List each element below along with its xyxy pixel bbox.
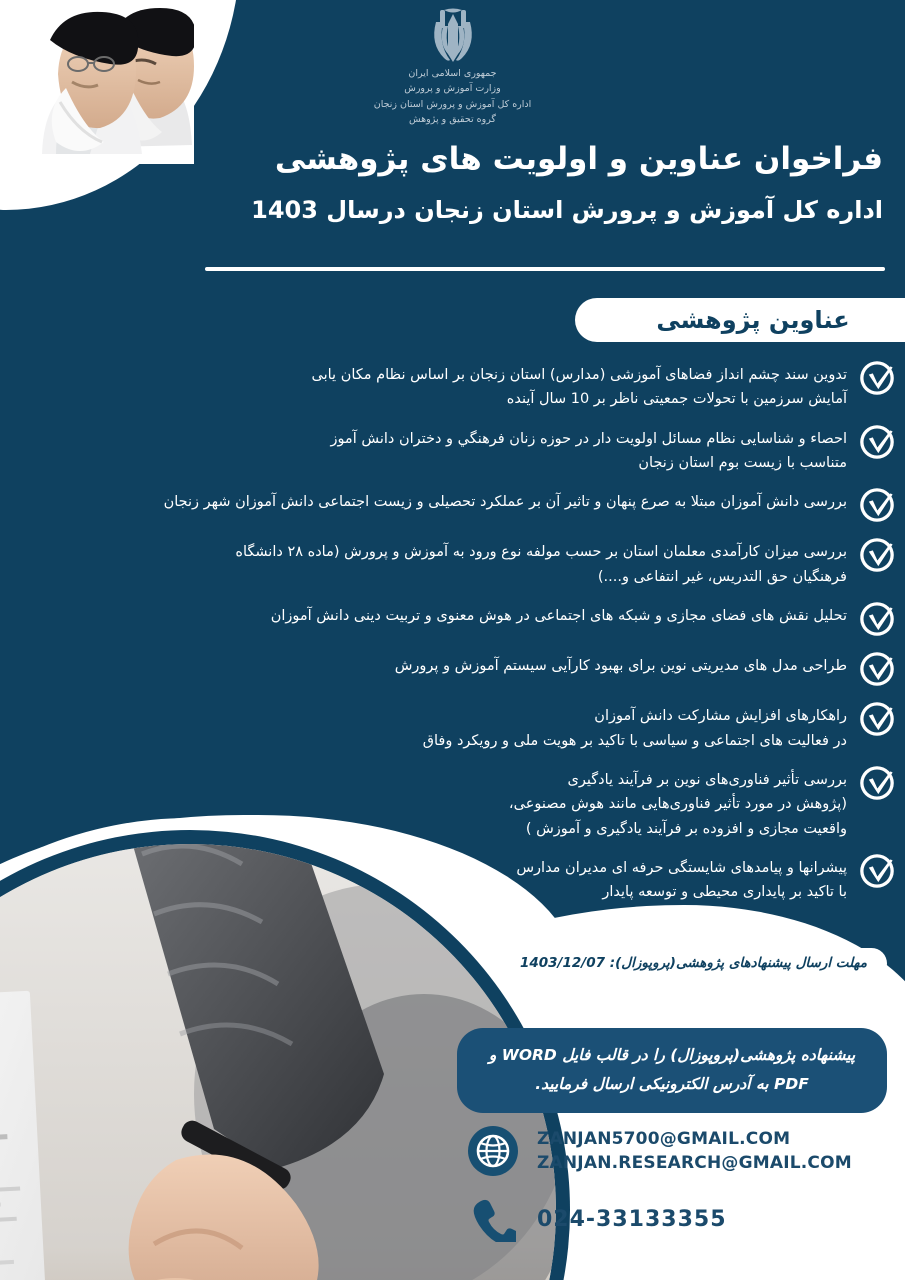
section-banner-label: عناوین پژوهشی	[575, 306, 905, 334]
topic-text: بررسی میزان کارآمدی معلمان استان بر حسب …	[10, 539, 847, 589]
check-circle-icon	[857, 358, 897, 398]
check-circle-icon	[857, 422, 897, 462]
title-block: فراخوان عناوین و اولویت های پژوهشی اداره…	[183, 140, 883, 226]
list-item: تدوین سند چشم انداز فضاهای آموزشی (مدارس…	[0, 362, 905, 412]
email-list: ZANJAN5700@GMAIL.COM ZANJAN.RESEARCH@GMA…	[537, 1128, 852, 1173]
list-item: بررسی میزان کارآمدی معلمان استان بر حسب …	[0, 539, 905, 589]
list-item: راهکارهای افزایش مشارکت دانش آموزان در ف…	[0, 703, 905, 753]
topics-list: تدوین سند چشم انداز فضاهای آموزشی (مدارس…	[0, 362, 905, 919]
check-circle-icon	[857, 599, 897, 639]
poster-root: جمهوری اسلامی ایران وزارت آموزش و پرورش …	[0, 0, 905, 1280]
title-divider	[205, 267, 885, 271]
phone-row: 024-33133355	[467, 1193, 887, 1245]
email-secondary[interactable]: ZANJAN.RESEARCH@GMAIL.COM	[537, 1152, 852, 1174]
list-item: تحلیل نقش های فضای مجازی و شبکه های اجتم…	[0, 603, 905, 639]
check-circle-icon	[857, 649, 897, 689]
check-circle-icon	[857, 485, 897, 525]
check-circle-icon	[857, 699, 897, 739]
iran-national-emblem-icon	[422, 8, 484, 66]
page-subtitle: اداره کل آموزش و پرورش استان زنجان درسال…	[183, 194, 883, 226]
list-item: احصاء و شناسایی نظام مسائل اولویت دار در…	[0, 426, 905, 476]
topic-text: طراحی مدل های مدیریتی نوین برای بهبود کا…	[10, 653, 847, 678]
contact-block: ZANJAN5700@GMAIL.COM ZANJAN.RESEARCH@GMA…	[467, 1125, 887, 1261]
submission-instruction: پیشنهاده پژوهشی(پروپوزال) را در قالب فای…	[457, 1028, 887, 1113]
topic-text: راهکارهای افزایش مشارکت دانش آموزان در ف…	[10, 703, 847, 753]
page-title: فراخوان عناوین و اولویت های پژوهشی	[183, 140, 883, 180]
check-circle-icon	[857, 851, 897, 891]
deadline-badge: مهلت ارسال پیشنهادهای پژوهشی(پروپوزال): …	[507, 948, 887, 979]
email-primary[interactable]: ZANJAN5700@GMAIL.COM	[537, 1128, 852, 1150]
organization-lines: جمهوری اسلامی ایران وزارت آموزش و پرورش …	[273, 66, 633, 128]
topic-text: بررسی تأثیر فناوری‌های نوین بر فرآیند یا…	[10, 767, 847, 841]
globe-icon	[467, 1125, 519, 1177]
org-line-1: جمهوری اسلامی ایران	[273, 66, 633, 81]
section-banner: عناوین پژوهشی	[575, 298, 905, 342]
org-line-2: وزارت آموزش و پرورش	[273, 81, 633, 96]
topic-text: پیشرانها و پیامدهای شایستگی حرفه ای مدیر…	[10, 855, 847, 905]
topic-text: بررسی دانش آموزان مبتلا به صرع پنهان و ت…	[10, 489, 847, 514]
topic-text: تدوین سند چشم انداز فضاهای آموزشی (مدارس…	[10, 362, 847, 412]
list-item: بررسی تأثیر فناوری‌های نوین بر فرآیند یا…	[0, 767, 905, 841]
list-item: پیشرانها و پیامدهای شایستگی حرفه ای مدیر…	[0, 855, 905, 905]
org-line-4: گروه تحقیق و پژوهش	[273, 112, 633, 127]
email-row: ZANJAN5700@GMAIL.COM ZANJAN.RESEARCH@GMA…	[467, 1125, 887, 1177]
org-line-3: اداره کل آموزش و پرورش استان زنجان	[273, 97, 633, 112]
phone-icon	[467, 1193, 519, 1245]
list-item: بررسی دانش آموزان مبتلا به صرع پنهان و ت…	[0, 489, 905, 525]
check-circle-icon	[857, 763, 897, 803]
topic-text: احصاء و شناسایی نظام مسائل اولویت دار در…	[10, 426, 847, 476]
list-item: طراحی مدل های مدیریتی نوین برای بهبود کا…	[0, 653, 905, 689]
leaders-portrait-photo	[14, 2, 194, 164]
topic-text: تحلیل نقش های فضای مجازی و شبکه های اجتم…	[10, 603, 847, 628]
check-circle-icon	[857, 535, 897, 575]
phone-number[interactable]: 024-33133355	[537, 1207, 727, 1232]
